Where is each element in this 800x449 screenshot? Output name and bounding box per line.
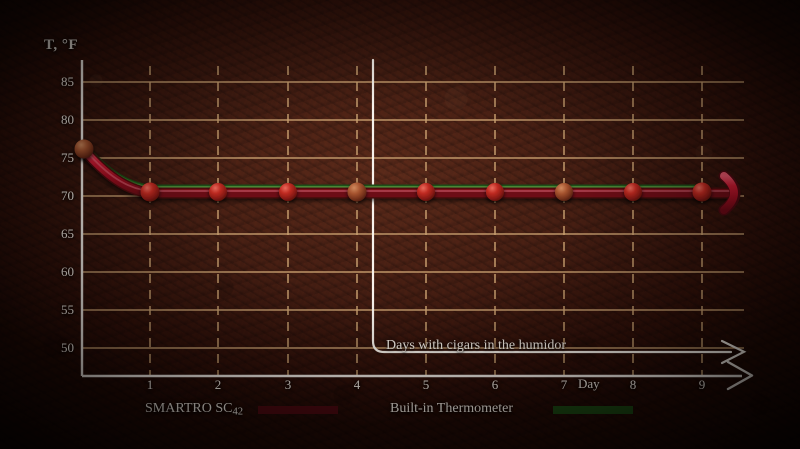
vertical-gridlines	[150, 66, 702, 376]
x-tick-label-2: 2	[204, 378, 232, 391]
y-tick-label-75: 75	[46, 151, 74, 164]
data-point	[141, 183, 160, 202]
x-tick-label-8: 8	[619, 378, 647, 391]
x-tick-label-4: 4	[343, 378, 371, 391]
horizontal-gridlines	[82, 82, 744, 348]
y-axis-title: T, °F	[44, 38, 78, 53]
annotation-label: Days with cigars in the humidor	[386, 339, 566, 353]
chart-svg	[0, 0, 800, 449]
data-point	[624, 183, 642, 201]
y-tick-label-70: 70	[46, 189, 74, 202]
annotation-bracket	[373, 60, 744, 363]
legend-label-smartro-sub: 42	[232, 406, 243, 417]
data-point	[693, 183, 712, 202]
series-built-in-thermometer	[84, 148, 702, 189]
data-point	[75, 140, 94, 159]
x-tick-label-5: 5	[412, 378, 440, 391]
plot-area: T, °F 85 80 75 70 65 60 55 50 1 2 3 4 5 …	[0, 0, 800, 449]
y-tick-label-80: 80	[46, 113, 74, 126]
data-point	[417, 183, 435, 201]
x-tick-label-9: 9	[688, 378, 716, 391]
legend-label-builtin: Built-in Thermometer	[390, 402, 513, 416]
data-point	[279, 183, 297, 201]
chart-screenshot: T, °F 85 80 75 70 65 60 55 50 1 2 3 4 5 …	[0, 0, 800, 449]
y-tick-label-60: 60	[46, 265, 74, 278]
x-tick-label-3: 3	[274, 378, 302, 391]
data-point	[486, 183, 504, 201]
data-point	[348, 183, 367, 202]
x-tick-label-1: 1	[136, 378, 164, 391]
x-tick-label-6: 6	[481, 378, 509, 391]
y-tick-label-85: 85	[46, 75, 74, 88]
data-point	[209, 183, 227, 201]
x-axis-name: Day	[578, 377, 600, 390]
data-point	[555, 183, 573, 201]
y-tick-label-50: 50	[46, 341, 74, 354]
y-tick-label-65: 65	[46, 227, 74, 240]
x-tick-label-7: 7	[550, 378, 578, 391]
legend-label-smartro-main: SMARTRO SC	[145, 401, 232, 416]
legend-label-smartro: SMARTRO SC42	[145, 402, 243, 418]
y-tick-label-55: 55	[46, 303, 74, 316]
